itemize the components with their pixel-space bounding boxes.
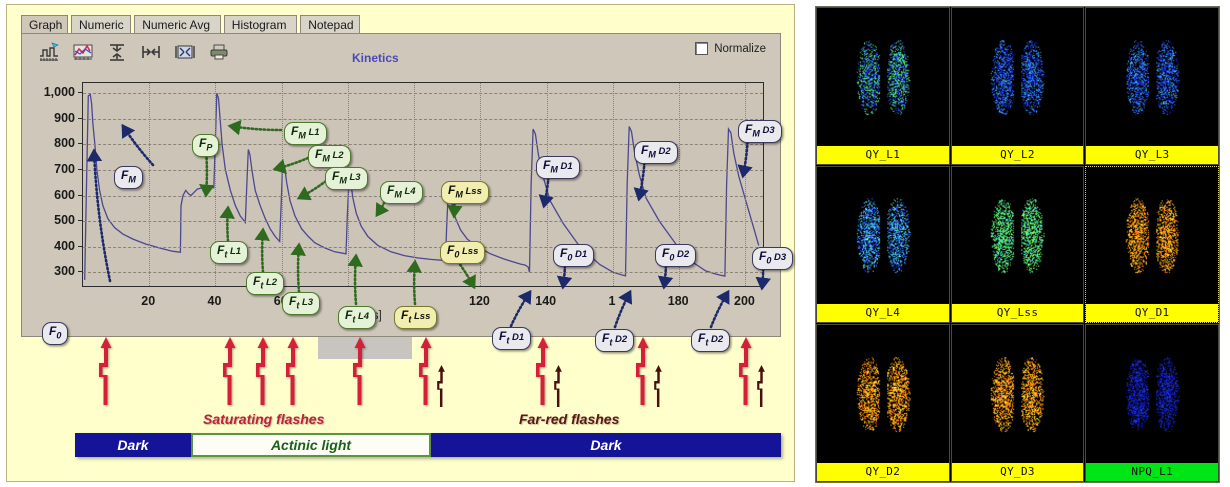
chart-color-icon[interactable] bbox=[72, 42, 94, 62]
tab-strip: GraphNumericNumeric AvgHistogramNotepad bbox=[21, 15, 781, 35]
annotation-arrow bbox=[511, 292, 530, 326]
y-axis-tick-label: 800 bbox=[15, 136, 75, 150]
annotation-label-fml3: FM L3 bbox=[325, 167, 368, 190]
image-caption: QY_L1 bbox=[817, 146, 949, 164]
saturating-flash-arrow bbox=[417, 337, 435, 405]
y-axis-tick-label: 900 bbox=[15, 111, 75, 125]
far-red-flash-arrow bbox=[652, 365, 665, 405]
saturating-flash-arrow bbox=[284, 337, 302, 405]
gridline-y bbox=[83, 170, 763, 171]
normalize-label: Normalize bbox=[714, 43, 766, 55]
x-axis-tick-label: 20 bbox=[141, 294, 155, 308]
image-caption: QY_D1 bbox=[1086, 304, 1218, 322]
fit-vertical-icon[interactable] bbox=[106, 42, 128, 62]
graph-panel: GraphNumericNumeric AvgHistogramNotepad bbox=[6, 4, 795, 482]
annotation-label-fmd2: FM D2 bbox=[634, 141, 678, 164]
y-axis-tick bbox=[78, 169, 82, 170]
y-axis-tick bbox=[78, 92, 82, 93]
saturating-flash-arrow bbox=[534, 337, 552, 405]
gridline-y bbox=[83, 221, 763, 222]
phase-bar: DarkActinic lightDark bbox=[75, 433, 781, 457]
saturating-flash-arrow bbox=[97, 337, 115, 405]
y-axis-tick bbox=[78, 246, 82, 247]
x-axis-tick-label: 120 bbox=[469, 294, 490, 308]
fluorescence-image bbox=[1086, 167, 1218, 305]
image-cell-qy_l4[interactable]: QY_L4 bbox=[816, 166, 950, 324]
annotation-label-fmlss: FM Lss bbox=[441, 181, 489, 204]
fluorescence-image bbox=[817, 8, 949, 146]
image-cell-qy_d3[interactable]: QY_D3 bbox=[951, 324, 1085, 482]
screenshot-root: GraphNumericNumeric AvgHistogramNotepad bbox=[0, 0, 1230, 487]
image-caption: QY_L4 bbox=[817, 304, 949, 322]
y-axis-tick-label: 400 bbox=[15, 239, 75, 253]
y-axis-tick-label: 300 bbox=[15, 264, 75, 278]
annotation-label-ftl3: Ft L3 bbox=[282, 292, 320, 315]
chart-cursor-icon[interactable] bbox=[38, 42, 60, 62]
annotation-label-ftl4: Ft L4 bbox=[338, 306, 376, 329]
annotation-label-f0d3: F0 D3 bbox=[752, 247, 793, 270]
gridline-y bbox=[83, 272, 763, 273]
normalize-control[interactable]: Normalize bbox=[695, 42, 766, 55]
annotation-label-fp: FP bbox=[192, 134, 219, 157]
fluorescence-image bbox=[952, 325, 1084, 463]
fluorescence-image bbox=[1086, 8, 1218, 146]
chart-title: Kinetics bbox=[352, 51, 399, 65]
image-grid: QY_L1QY_L2QY_L3QY_L4QY_LssQY_D1QY_D2QY_D… bbox=[815, 6, 1220, 483]
chart-container: Normalize Kinetics 1,0009008007006005004… bbox=[21, 34, 781, 337]
annotation-label-fm: FM bbox=[114, 166, 143, 189]
annotation-label-ftl1: Ft L1 bbox=[210, 241, 248, 264]
phase-segment-dark-2: Dark bbox=[431, 433, 781, 457]
annotation-label-ftlss: Ft Lss bbox=[394, 306, 437, 329]
image-cell-npq_l1[interactable]: NPQ_L1 bbox=[1085, 324, 1219, 482]
y-axis-tick bbox=[78, 220, 82, 221]
y-axis-tick bbox=[78, 118, 82, 119]
x-axis-tick-label: 200 bbox=[734, 294, 755, 308]
gridline-x bbox=[613, 83, 614, 286]
gridline-y bbox=[83, 119, 763, 120]
image-caption: QY_L2 bbox=[952, 146, 1084, 164]
y-axis-tick-label: 600 bbox=[15, 188, 75, 202]
saturating-flashes-caption: Saturating flashes bbox=[203, 411, 324, 427]
fluorescence-image bbox=[952, 8, 1084, 146]
image-caption: QY_D2 bbox=[817, 463, 949, 481]
fit-horizontal-icon[interactable] bbox=[140, 42, 162, 62]
annotation-arrow bbox=[615, 292, 630, 327]
x-axis-tick-label: 1 bbox=[608, 294, 615, 308]
annotation-label-fml1: FM L1 bbox=[284, 122, 327, 145]
image-caption: NPQ_L1 bbox=[1086, 463, 1218, 481]
annotation-label-f0lss: F0 Lss bbox=[440, 241, 485, 264]
fit-all-icon[interactable] bbox=[174, 42, 196, 62]
far-red-flash-arrow bbox=[755, 365, 768, 405]
gridline-x bbox=[547, 83, 548, 286]
tab-graph[interactable]: Graph bbox=[21, 15, 68, 34]
tab-numeric-avg[interactable]: Numeric Avg bbox=[134, 15, 221, 34]
annotation-arrow bbox=[711, 292, 728, 327]
saturating-flash-arrow bbox=[737, 337, 755, 405]
image-cell-qy_lss[interactable]: QY_Lss bbox=[951, 166, 1085, 324]
y-axis-tick-label: 500 bbox=[15, 213, 75, 227]
y-axis-tick-label: 700 bbox=[15, 162, 75, 176]
image-cell-qy_l1[interactable]: QY_L1 bbox=[816, 7, 950, 165]
fluorescence-image bbox=[817, 325, 949, 463]
fluorescence-image bbox=[1086, 325, 1218, 463]
saturating-flash-arrow bbox=[351, 337, 369, 405]
printer-icon[interactable] bbox=[208, 42, 230, 62]
far-red-flash-arrow bbox=[552, 365, 565, 405]
image-cell-qy_d1[interactable]: QY_D1 bbox=[1085, 166, 1219, 324]
annotation-label-fml4: FM L4 bbox=[380, 181, 423, 204]
gridline-x bbox=[745, 83, 746, 286]
tab-numeric[interactable]: Numeric bbox=[71, 15, 131, 34]
gridline-y bbox=[83, 93, 763, 94]
fluorescence-image bbox=[817, 167, 949, 305]
image-cell-qy_l2[interactable]: QY_L2 bbox=[951, 7, 1085, 165]
saturating-flash-arrow bbox=[254, 337, 272, 405]
y-axis-tick bbox=[78, 143, 82, 144]
tab-histogram[interactable]: Histogram bbox=[224, 15, 297, 34]
annotation-label-fmd1: FM D1 bbox=[536, 156, 580, 179]
far-red-flash-arrow bbox=[435, 365, 448, 405]
annotation-label-f0d1: F0 D1 bbox=[553, 244, 594, 267]
phase-segment-light-1: Actinic light bbox=[191, 433, 431, 457]
annotation-label-fml2: FM L2 bbox=[308, 145, 351, 168]
flash-timeline: Saturating flashesFar-red flashes bbox=[21, 337, 781, 427]
annotation-label-fmd3: FM D3 bbox=[738, 120, 782, 143]
fluorescence-image bbox=[952, 167, 1084, 305]
image-caption: QY_D3 bbox=[952, 463, 1084, 481]
far-red-flashes-caption: Far-red flashes bbox=[519, 411, 619, 427]
x-axis-tick-label: 40 bbox=[208, 294, 222, 308]
image-caption: QY_Lss bbox=[952, 304, 1084, 322]
annotation-label-ftl2: Ft L2 bbox=[246, 272, 284, 295]
y-axis-tick bbox=[78, 195, 82, 196]
x-axis-tick-label: 180 bbox=[668, 294, 689, 308]
gridline-x bbox=[282, 83, 283, 286]
gridline-y bbox=[83, 196, 763, 197]
tab-notepad[interactable]: Notepad bbox=[300, 15, 360, 34]
x-axis-tick-label: 140 bbox=[535, 294, 556, 308]
image-caption: QY_L3 bbox=[1086, 146, 1218, 164]
phase-segment-dark-0: Dark bbox=[75, 433, 191, 457]
annotation-label-f0d2: F0 D2 bbox=[655, 244, 696, 267]
chart-toolbar bbox=[38, 40, 230, 64]
y-axis-tick bbox=[78, 271, 82, 272]
y-axis-tick-label: 1,000 bbox=[15, 85, 75, 99]
image-cell-qy_l3[interactable]: QY_L3 bbox=[1085, 7, 1219, 165]
saturating-flash-arrow bbox=[221, 337, 239, 405]
gridline-x bbox=[149, 83, 150, 286]
saturating-flash-arrow bbox=[634, 337, 652, 405]
normalize-checkbox[interactable] bbox=[695, 42, 708, 55]
image-cell-qy_d2[interactable]: QY_D2 bbox=[816, 324, 950, 482]
